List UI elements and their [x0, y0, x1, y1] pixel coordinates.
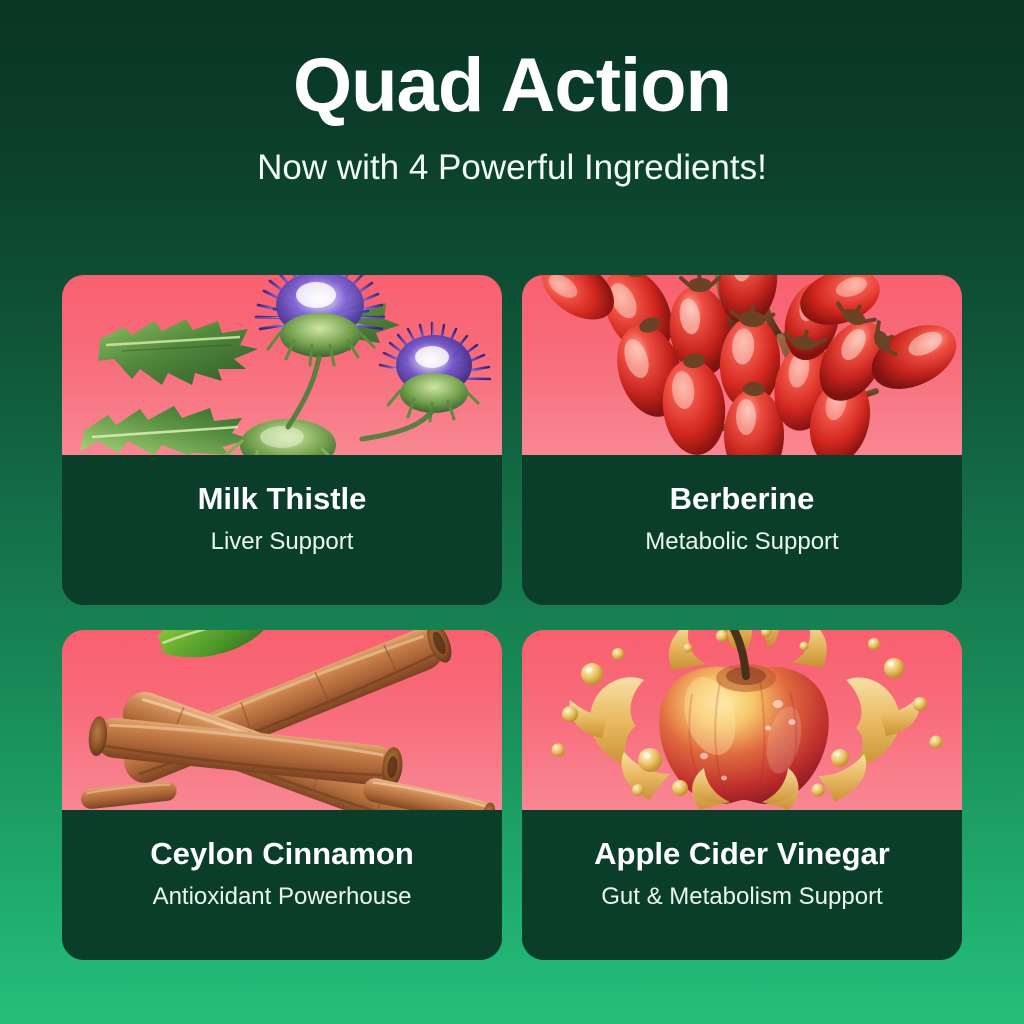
ingredient-card-grid: Milk Thistle Liver Support [62, 275, 962, 960]
ingredient-benefit: Gut & Metabolism Support [522, 871, 962, 909]
ingredient-benefit: Liver Support [62, 516, 502, 554]
ingredient-name: Milk Thistle [62, 483, 502, 516]
ingredient-name: Apple Cider Vinegar [522, 838, 962, 871]
ingredient-name: Ceylon Cinnamon [62, 838, 502, 871]
page-subtitle: Now with 4 Powerful Ingredients! [0, 124, 1024, 185]
ingredient-card-apple-cider-vinegar[interactable]: Apple Cider Vinegar Gut & Metabolism Sup… [522, 630, 962, 960]
ingredient-benefit: Metabolic Support [522, 516, 962, 554]
berberine-image [522, 275, 962, 455]
ingredient-card-ceylon-cinnamon[interactable]: Ceylon Cinnamon Antioxidant Powerhouse [62, 630, 502, 960]
cinnamon-image [62, 630, 502, 810]
apple-splash-image [522, 630, 962, 810]
product-ingredient-poster: Quad Action Now with 4 Powerful Ingredie… [0, 0, 1024, 1024]
ingredient-benefit: Antioxidant Powerhouse [62, 871, 502, 909]
poster-header: Quad Action Now with 4 Powerful Ingredie… [0, 0, 1024, 185]
apple-cider-vinegar-caption: Apple Cider Vinegar Gut & Metabolism Sup… [522, 810, 962, 960]
page-title: Quad Action [0, 0, 1024, 124]
berberine-caption: Berberine Metabolic Support [522, 455, 962, 605]
milk-thistle-caption: Milk Thistle Liver Support [62, 455, 502, 605]
ingredient-name: Berberine [522, 483, 962, 516]
ingredient-card-milk-thistle[interactable]: Milk Thistle Liver Support [62, 275, 502, 605]
milk-thistle-image [62, 275, 502, 455]
cinnamon-caption: Ceylon Cinnamon Antioxidant Powerhouse [62, 810, 502, 960]
ingredient-card-berberine[interactable]: Berberine Metabolic Support [522, 275, 962, 605]
